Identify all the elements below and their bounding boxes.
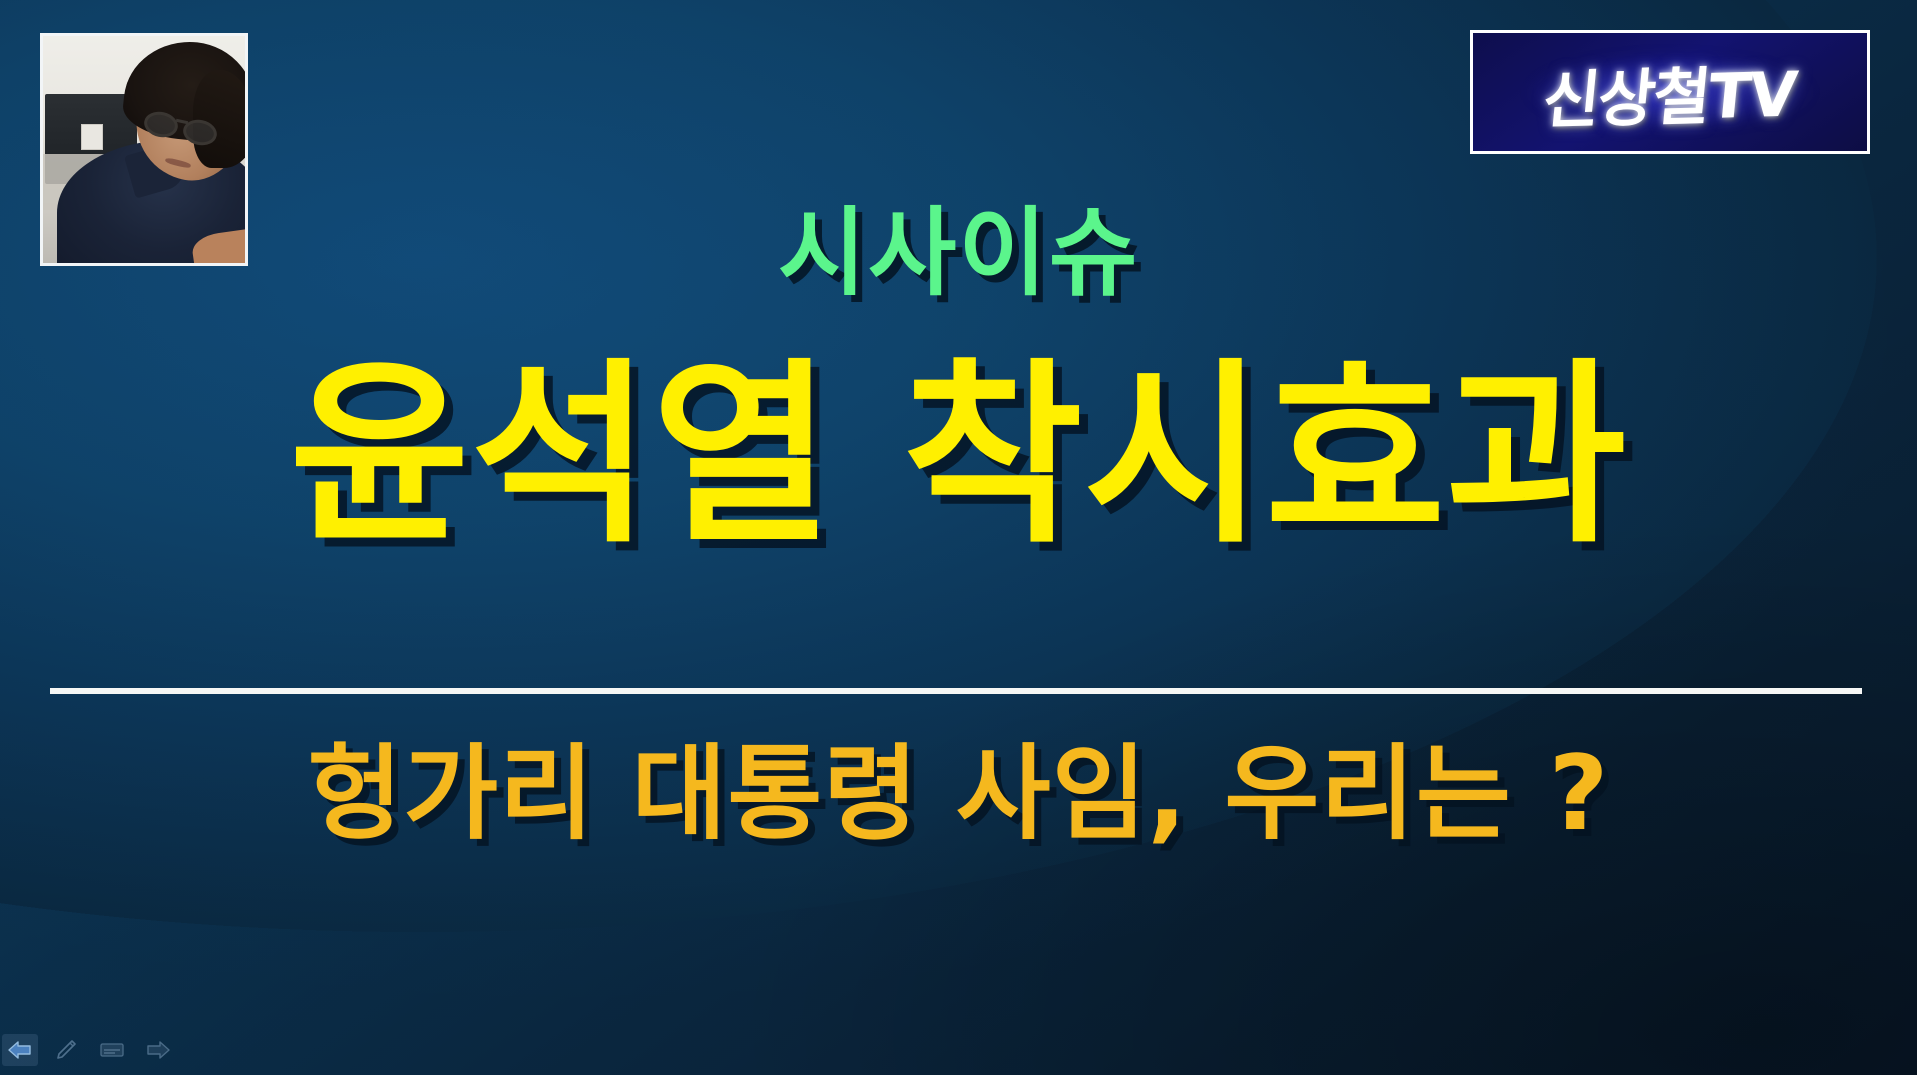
presentation-slide[interactable]: 신상철TV 시사이슈 윤석열 착시효과 헝가리 대통령 사임, 우리는 ? — [0, 0, 1917, 1075]
channel-logo-text: 신상철TV — [1540, 44, 1801, 141]
pen-tool-button[interactable] — [48, 1034, 84, 1066]
right-arrow-icon — [145, 1040, 171, 1060]
page-title: 윤석열 착시효과 — [0, 355, 1917, 559]
slide-icon — [99, 1041, 125, 1059]
left-arrow-icon — [7, 1040, 33, 1060]
next-slide-button[interactable] — [140, 1034, 176, 1066]
previous-slide-button[interactable] — [2, 1034, 38, 1066]
channel-logo: 신상철TV — [1470, 30, 1870, 154]
eyebrow-text: 시사이슈 — [0, 205, 1917, 301]
presentation-toolbar[interactable] — [2, 1031, 176, 1069]
subtitle-text: 헝가리 대통령 사임, 우리는 ? — [0, 740, 1917, 848]
title-divider — [50, 688, 1862, 694]
presenter-photo — [40, 33, 248, 266]
slide-menu-button[interactable] — [94, 1034, 130, 1066]
pen-icon — [54, 1039, 78, 1061]
photo-wall-panel — [81, 124, 103, 150]
